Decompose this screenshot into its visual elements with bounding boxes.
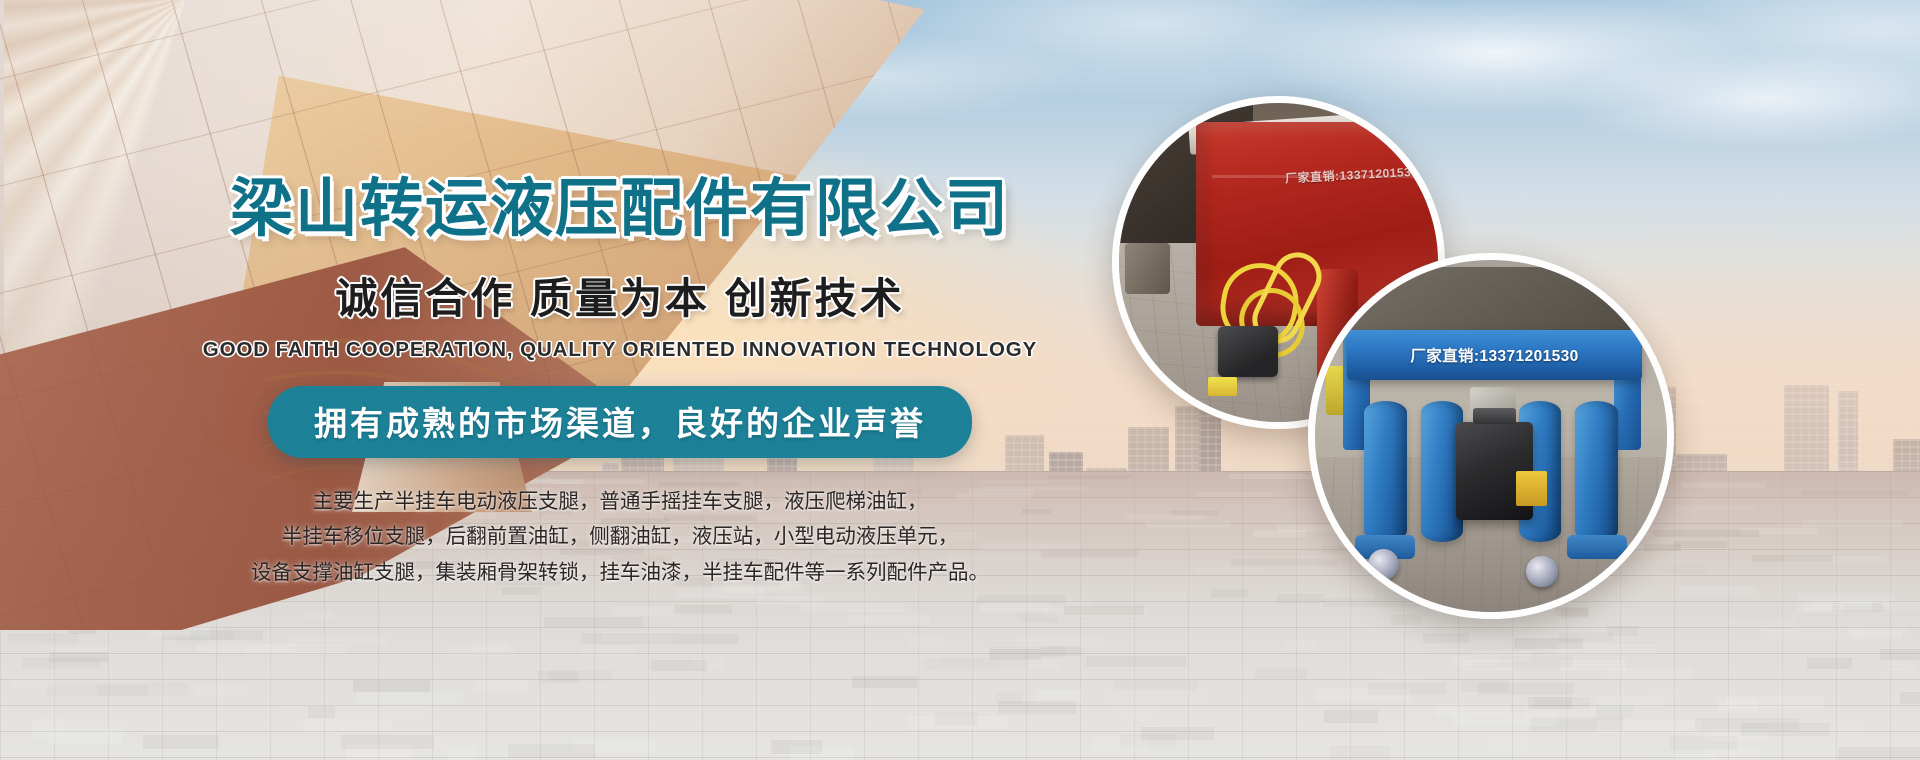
plaza-tile [979,603,1051,612]
plaza-tile [677,589,765,598]
plaza-tile [1316,689,1410,701]
plaza-tile [1113,680,1198,692]
plaza-tile [282,705,371,718]
plaza-tile [1451,655,1499,666]
plaza-tile [1653,530,1759,537]
slogan-english: GOOD FAITH COOPERATION, QUALITY ORIENTED… [200,338,1040,362]
plaza-tile [756,596,824,605]
plaza-tile [1196,492,1273,497]
plaza-tile [908,637,944,647]
slogan-chinese: 诚信合作 质量为本 创新技术 [200,265,1040,326]
plaza-tile [1848,626,1907,636]
plaza-tile [1803,520,1903,526]
plaza-tile [1196,567,1264,575]
plaza-tile [1557,644,1657,655]
plaza-tile [1137,593,1184,602]
plaza-tile [1727,618,1796,628]
plaza-tile [1383,719,1489,732]
plaza-tile [1682,483,1765,488]
description-line: 主要生产半挂车电动液压支腿，普通手摇挂车支腿，液压爬梯油缸， [200,484,1040,519]
plaza-tile [353,680,429,692]
plaza-tile [865,656,938,667]
plaza-tile [1807,658,1852,669]
plaza-tile [1330,746,1390,760]
plaza-tile [1324,710,1378,723]
plaza-tile [1253,530,1306,537]
plaza-tile [1596,705,1634,718]
plaza-tile [1784,556,1887,563]
hydraulic-leg [1575,401,1617,542]
plaza-tile [1774,522,1811,528]
plaza-tile [1171,510,1218,516]
plaza-tile [1679,586,1755,595]
plaza-tile [548,670,612,681]
plaza-tile [1114,709,1154,722]
plaza-tile [1391,615,1421,625]
description-line: 设备支撑油缸支腿，集装厢骨架转锁，挂车油漆，半挂车配件等一系列配件产品。 [200,555,1040,590]
plaza-tile [1849,601,1876,610]
plaza-tile [1379,671,1421,682]
plaza-tile [1802,490,1909,495]
blue-machine-caption: 厂家直销:13371201530 [1410,344,1578,366]
plaza-tile [1284,640,1317,650]
plaza-tile [1607,626,1638,636]
plaza-tile [581,646,637,657]
plaza-tile [573,739,657,753]
description-line: 半挂车移位支腿，后翻前置油缸，侧翻油缸，液压站，小型电动液压单元， [200,519,1040,554]
banner-copy: 梁山转运液压配件有限公司 诚信合作 质量为本 创新技术 GOOD FAITH C… [200,175,1040,590]
plaza-tile [32,726,124,739]
ribbon-label: 拥有成熟的市场渠道，良好的企业声誉 [314,405,926,442]
plaza-tile [1120,734,1176,748]
oil-drum [1125,243,1170,294]
blue-machine-scene: 厂家直销:13371201530 [1315,260,1667,612]
plaza-tile [1597,720,1703,733]
plaza-tile [674,605,732,614]
plaza-tile [1486,736,1528,750]
plaza-tile [1838,747,1920,760]
plaza-tile [1478,683,1575,695]
plaza-tile [544,617,642,627]
plaza-tile [357,692,463,704]
plaza-tile [740,619,843,629]
plaza-tile [143,735,219,749]
plaza-tile [1673,505,1756,511]
plaza-tile [581,633,682,643]
plaza-tile [1423,633,1469,643]
plaza-tile [303,611,334,620]
plaza-tile [1771,724,1862,737]
plaza-tile [341,735,434,749]
plaza-tile [848,615,930,625]
yellow-package [1208,377,1237,396]
caster-wheel [1526,556,1558,588]
plaza-tile [194,684,249,696]
plaza-tile [1041,646,1081,657]
plaza-tile [471,639,509,649]
product-description: 主要生产半挂车电动液压支腿，普通手摇挂车支腿，液压爬梯油缸， 半挂车移位支腿，后… [200,484,1040,590]
plaza-tile [852,676,917,688]
plaza-tile [1211,589,1248,598]
page-title: 梁山转运液压配件有限公司 [200,175,1040,243]
plaza-tile [1255,668,1306,679]
highlight-ribbon: 拥有成熟的市场渠道，良好的企业声誉 [268,386,972,458]
plaza-tile [1914,617,1920,627]
plaza-tile [1900,692,1920,704]
hydraulic-leg [1364,401,1406,542]
plaza-tile [1880,649,1920,660]
plaza-tile [1000,659,1059,670]
blue-banner-bar: 厂家直销:13371201530 [1347,330,1643,379]
plaza-tile [1229,474,1324,479]
plaza-tile [612,606,681,615]
plaza-tile [97,683,188,695]
plaza-tile [1886,668,1920,679]
plaza-tile [1705,729,1769,742]
plaza-tile [1041,550,1138,557]
plaza-tile [1064,606,1144,615]
plaza-tile [49,652,108,663]
plaza-tile [1798,593,1896,602]
electric-motor [1218,326,1279,377]
plaza-tile [196,643,295,653]
plaza-tile [682,634,737,644]
plaza-tile [1674,541,1727,548]
plaza-tile [1435,704,1511,717]
plaza-tile [791,747,855,760]
plaza-tile [10,676,56,688]
plaza-tile [1019,613,1058,622]
plaza-tile [1797,604,1844,613]
plaza-tile [476,680,528,692]
plaza-tile [935,712,977,725]
plaza-tile [1147,522,1230,528]
product-photo-blue[interactable]: 厂家直销:13371201530 [1308,253,1674,619]
plaza-tile [1446,619,1526,629]
plaza-tile [1673,754,1719,760]
hero-banner: 梁山转运液压配件有限公司 诚信合作 质量为本 创新技术 GOOD FAITH C… [0,0,1920,760]
plaza-tile [303,718,391,731]
plaza-tile [1036,690,1082,702]
plaza-tile [448,746,476,760]
plaza-tile [1086,656,1186,667]
background-equipment [1336,267,1646,330]
control-switch [1516,471,1548,506]
leg-foot-plate [1567,535,1627,560]
plaza-tile [651,660,707,671]
plaza-tile [1048,475,1132,480]
plaza-tile [1726,695,1825,707]
plaza-tile [995,692,1023,704]
plaza-tile [8,633,77,643]
